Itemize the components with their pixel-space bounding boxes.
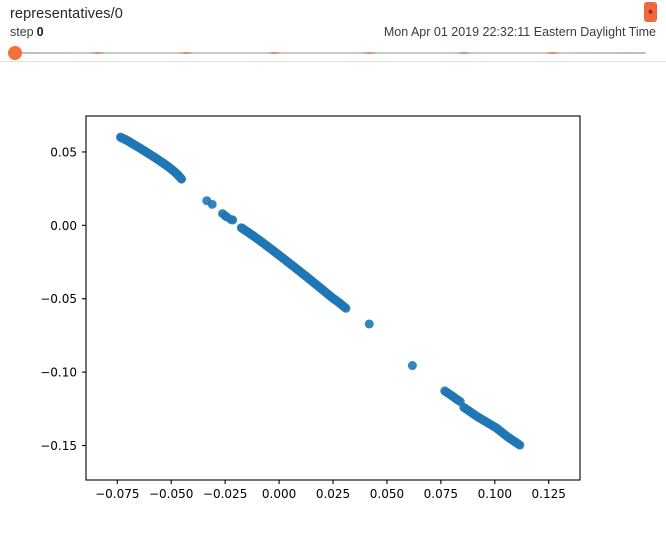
svg-text:−0.05: −0.05 (40, 292, 77, 306)
slider-track[interactable] (14, 52, 646, 54)
wall-time: Mon Apr 01 2019 22:32:11 Eastern Dayligh… (384, 25, 656, 40)
scatter-figure[interactable]: −0.075−0.050−0.0250.0000.0250.0500.0750.… (0, 62, 666, 536)
svg-text:−0.025: −0.025 (203, 487, 247, 501)
svg-text:0.05: 0.05 (50, 145, 77, 159)
svg-text:0.075: 0.075 (424, 487, 458, 501)
svg-text:−0.10: −0.10 (40, 366, 77, 380)
svg-text:−0.075: −0.075 (95, 487, 139, 501)
svg-text:0.125: 0.125 (532, 487, 566, 501)
card-header: representatives/0 step0 Mon Apr 01 2019 … (0, 0, 666, 56)
step-slider[interactable] (0, 44, 666, 62)
step-readout: step0 (10, 25, 44, 40)
step-value: 0 (37, 25, 44, 39)
pin-icon (647, 8, 654, 17)
run-title: representatives/0 (10, 6, 656, 23)
svg-text:0.100: 0.100 (478, 487, 512, 501)
svg-text:0.000: 0.000 (262, 487, 296, 501)
plot-area: representatives −0.075−0.050−0.0250.0000… (0, 62, 666, 536)
svg-text:0.050: 0.050 (370, 487, 404, 501)
svg-text:0.025: 0.025 (316, 487, 350, 501)
slider-thumb[interactable] (8, 46, 22, 60)
svg-text:0.00: 0.00 (50, 219, 77, 233)
header-meta-row: step0 Mon Apr 01 2019 22:32:11 Eastern D… (10, 25, 656, 40)
svg-text:−0.15: −0.15 (40, 439, 77, 453)
pin-button[interactable] (644, 2, 657, 22)
step-label: step (10, 25, 34, 39)
scatter-svg: −0.075−0.050−0.0250.0000.0250.0500.0750.… (0, 62, 666, 536)
svg-text:−0.050: −0.050 (149, 487, 193, 501)
